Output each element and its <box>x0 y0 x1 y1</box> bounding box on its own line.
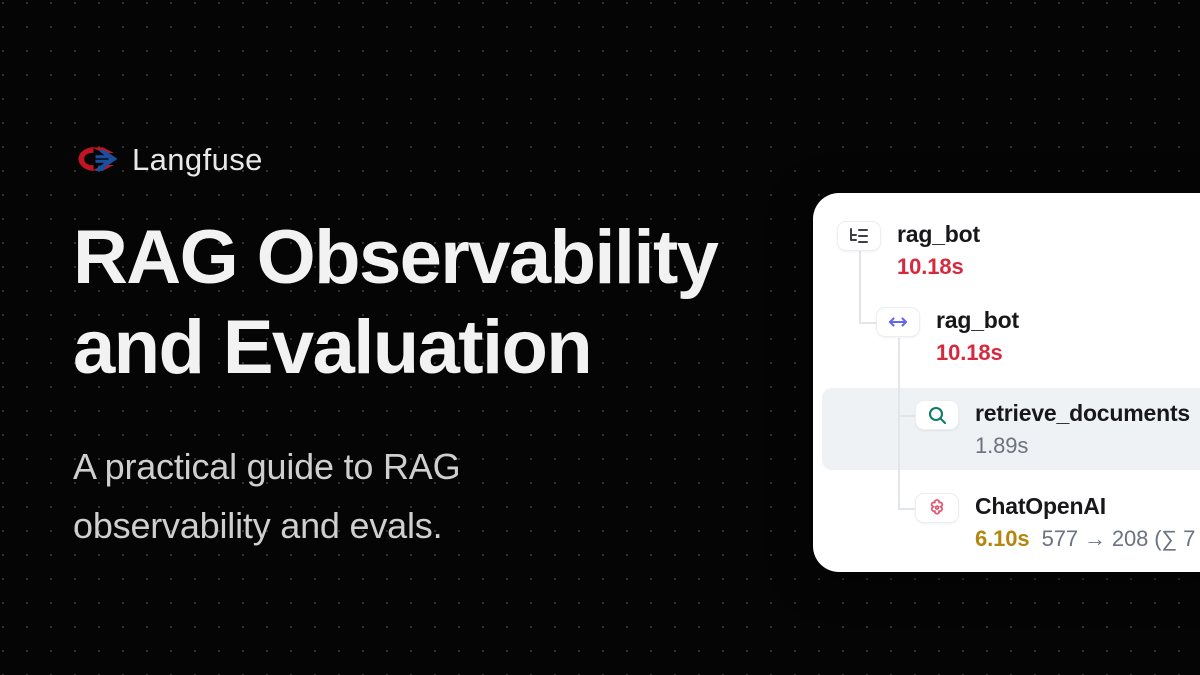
trace-node-rag-bot-root[interactable]: rag_bot 10.18s <box>837 221 980 279</box>
trace-node-name: retrieve_documents <box>975 400 1190 427</box>
trace-node-name: rag_bot <box>936 307 1019 334</box>
latency-value: 10.18s <box>897 254 964 279</box>
langfuse-logo-icon <box>73 144 119 174</box>
page-subtitle: A practical guide to RAG observability a… <box>73 437 633 555</box>
page-title-line-1: RAG Observability <box>73 213 833 303</box>
token-usage-value: 577 → 208 (∑ 7 <box>1042 526 1196 551</box>
list-tree-icon <box>837 221 881 251</box>
page-subtitle-line-1: A practical guide to RAG <box>73 437 633 496</box>
trace-node-rag-bot-span[interactable]: rag_bot 10.18s <box>876 307 1019 365</box>
trace-tree: rag_bot 10.18s rag_bot <box>813 193 1200 572</box>
latency-value: 6.10s <box>975 526 1030 551</box>
trace-node-meta: 10.18s <box>936 341 1019 365</box>
trace-node-meta: 1.89s <box>975 434 1190 458</box>
brand-name: Langfuse <box>132 144 263 175</box>
trace-tree-panel: rag_bot 10.18s rag_bot <box>813 193 1200 572</box>
trace-node-name: ChatOpenAI <box>975 493 1195 520</box>
page-subtitle-line-2: observability and evals. <box>73 496 633 555</box>
trace-node-body: rag_bot 10.18s <box>936 307 1019 365</box>
page-title-line-2: and Evaluation <box>73 303 833 393</box>
magnifier-icon <box>915 400 959 430</box>
poster-canvas: Langfuse RAG Observability and Evaluatio… <box>0 0 1200 675</box>
hero-content: Langfuse RAG Observability and Evaluatio… <box>73 0 813 675</box>
trace-node-meta: 6.10s577 → 208 (∑ 7 <box>975 527 1195 551</box>
trace-node-body: ChatOpenAI 6.10s577 → 208 (∑ 7 <box>975 493 1195 551</box>
trace-node-body: retrieve_documents 1.89s <box>975 400 1190 458</box>
generation-sparkle-icon <box>915 493 959 523</box>
span-arrows-icon <box>876 307 920 337</box>
trace-node-body: rag_bot 10.18s <box>897 221 980 279</box>
brand-lockup: Langfuse <box>73 137 263 181</box>
latency-value: 1.89s <box>975 433 1028 458</box>
trace-node-name: rag_bot <box>897 221 980 248</box>
trace-node-retrieve-documents[interactable]: retrieve_documents 1.89s <box>915 400 1190 458</box>
trace-node-meta: 10.18s <box>897 255 980 279</box>
page-title: RAG Observability and Evaluation <box>73 213 833 392</box>
trace-node-chatopenai[interactable]: ChatOpenAI 6.10s577 → 208 (∑ 7 <box>915 493 1195 551</box>
latency-value: 10.18s <box>936 340 1003 365</box>
